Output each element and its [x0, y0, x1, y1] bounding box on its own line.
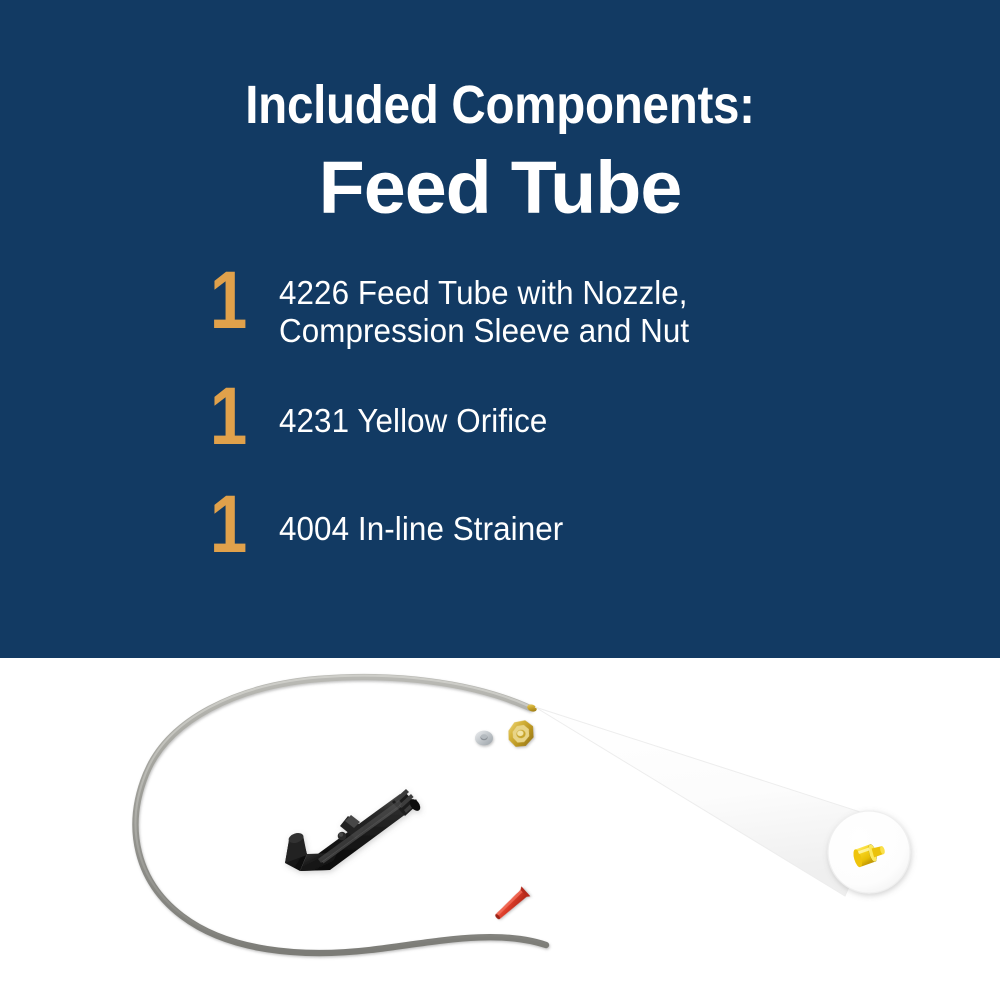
- headline-block: Included Components: Feed Tube: [0, 74, 1000, 230]
- product-infographic: Included Components: Feed Tube 1 4226 Fe…: [0, 0, 1000, 1000]
- quantity-badge: 1: [205, 262, 266, 340]
- component-label: 4004 In-line Strainer: [279, 486, 874, 548]
- component-label: 4231 Yellow Orifice: [279, 378, 874, 440]
- list-item: 1 4226 Feed Tube with Nozzle, Compressio…: [205, 262, 905, 350]
- page-title: Included Components:: [60, 74, 940, 136]
- product-photo-illustration: [0, 658, 1000, 1000]
- compression-sleeve: [475, 731, 493, 746]
- product-photo: [0, 658, 1000, 1000]
- component-label: 4226 Feed Tube with Nozzle, Compression …: [279, 262, 874, 350]
- list-item: 1 4231 Yellow Orifice: [205, 378, 905, 458]
- page-subtitle: Feed Tube: [0, 146, 1000, 230]
- list-item: 1 4004 In-line Strainer: [205, 486, 905, 566]
- components-list: 1 4226 Feed Tube with Nozzle, Compressio…: [205, 262, 905, 594]
- info-panel: Included Components: Feed Tube 1 4226 Fe…: [0, 0, 1000, 658]
- quantity-badge: 1: [205, 486, 266, 564]
- quantity-badge: 1: [205, 378, 266, 456]
